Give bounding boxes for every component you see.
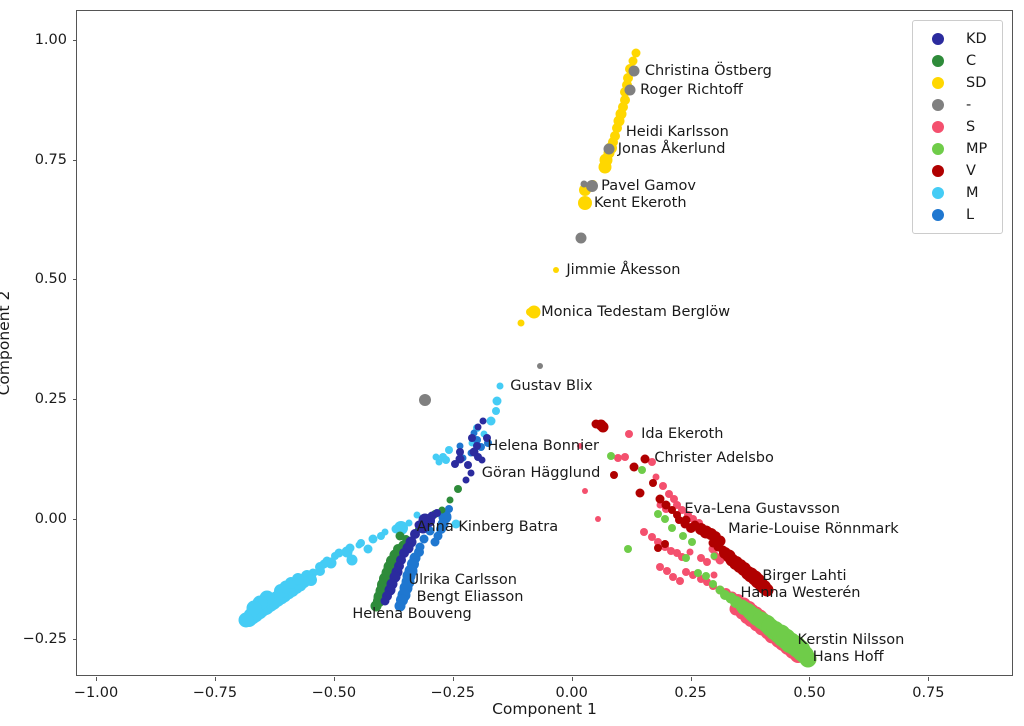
legend-swatch-icon bbox=[932, 187, 944, 199]
x-tick bbox=[809, 677, 810, 681]
x-tick bbox=[691, 677, 692, 681]
legend-item-l[interactable]: L bbox=[923, 204, 992, 226]
y-tick-label: 1.00 bbox=[35, 32, 67, 48]
point-annotation-label: Hanna Westerén bbox=[740, 586, 860, 601]
legend-item-mp[interactable]: MP bbox=[923, 138, 992, 160]
legend-item-sd[interactable]: SD bbox=[923, 72, 992, 94]
y-tick bbox=[73, 40, 77, 41]
y-tick bbox=[73, 399, 77, 400]
legend-swatch-icon bbox=[932, 209, 944, 221]
legend-item-label: C bbox=[966, 53, 992, 69]
x-tick-label: 0.00 bbox=[556, 685, 588, 701]
legend-swatch-icon bbox=[932, 77, 944, 89]
point-annotation-label: Birger Lahti bbox=[762, 569, 846, 584]
y-tick-label: −0.25 bbox=[23, 631, 67, 647]
y-tick-label: 0.00 bbox=[35, 511, 67, 527]
x-tick bbox=[334, 677, 335, 681]
x-tick-label: −1.00 bbox=[74, 685, 118, 701]
x-tick bbox=[96, 677, 97, 681]
x-tick-label: 0.25 bbox=[674, 685, 706, 701]
legend-item-none[interactable]: - bbox=[923, 94, 992, 116]
plot-area: Christina ÖstbergRoger RichtoffHeidi Kar… bbox=[76, 10, 1013, 676]
point-annotation-label: Heidi Karlsson bbox=[626, 125, 729, 140]
legend-item-label: MP bbox=[966, 141, 992, 157]
x-tick-label: 0.75 bbox=[912, 685, 944, 701]
legend-swatch-icon bbox=[932, 165, 944, 177]
point-annotation-label: Eva-Lena Gustavsson bbox=[684, 502, 840, 517]
legend-swatch-icon bbox=[932, 121, 944, 133]
point-annotation-label: Kerstin Nilsson bbox=[798, 632, 905, 647]
point-annotation-label: Ida Ekeroth bbox=[641, 426, 723, 441]
point-annotation-label: Jimmie Åkesson bbox=[566, 262, 680, 277]
point-annotation-label: Christer Adelsbo bbox=[654, 451, 773, 466]
y-tick-label: 0.75 bbox=[35, 152, 67, 168]
legend-swatch-icon bbox=[932, 99, 944, 111]
point-annotation-label: Ulrika Carlsson bbox=[408, 572, 516, 587]
point-annotation-label: Jonas Åkerlund bbox=[618, 141, 726, 156]
legend-item-label: SD bbox=[966, 75, 992, 91]
point-annotation-label: Helena Bonnier bbox=[487, 439, 599, 454]
x-axis-label: Component 1 bbox=[76, 700, 1013, 718]
point-annotation-label: Hans Hoff bbox=[813, 650, 884, 665]
legend-item-label: KD bbox=[966, 31, 992, 47]
point-annotation-label: Helena Bouveng bbox=[352, 607, 471, 622]
point-annotation-label: Gustav Blix bbox=[510, 379, 592, 394]
x-tick bbox=[572, 677, 573, 681]
x-tick bbox=[453, 677, 454, 681]
legend-item-label: L bbox=[966, 207, 992, 223]
point-annotation-label: Pavel Gamov bbox=[601, 179, 696, 194]
point-annotation-label: Christina Östberg bbox=[645, 64, 772, 79]
x-tick-label: −0.50 bbox=[312, 685, 356, 701]
y-tick bbox=[73, 279, 77, 280]
x-tick-label: −0.25 bbox=[431, 685, 475, 701]
legend-item-c[interactable]: C bbox=[923, 50, 992, 72]
legend-swatch-icon bbox=[932, 55, 944, 67]
legend-item-label: - bbox=[966, 97, 992, 113]
legend-swatch-icon bbox=[932, 143, 944, 155]
x-tick-label: 0.50 bbox=[793, 685, 825, 701]
scatter-plot-figure: Christina ÖstbergRoger RichtoffHeidi Kar… bbox=[0, 0, 1024, 726]
y-tick bbox=[73, 639, 77, 640]
point-annotation-label: Bengt Eliasson bbox=[417, 590, 524, 605]
point-annotation-label: Marie-Louise Rönnmark bbox=[728, 522, 899, 537]
x-tick bbox=[928, 677, 929, 681]
legend-item-s[interactable]: S bbox=[923, 116, 992, 138]
x-tick-label: −0.75 bbox=[193, 685, 237, 701]
legend[interactable]: KDCSD-SMPVML bbox=[912, 20, 1003, 234]
point-labels-layer: Christina ÖstbergRoger RichtoffHeidi Kar… bbox=[77, 11, 1012, 675]
legend-item-kd[interactable]: KD bbox=[923, 28, 992, 50]
point-annotation-label: Roger Richtoff bbox=[640, 83, 743, 98]
legend-item-label: V bbox=[966, 163, 992, 179]
legend-item-m[interactable]: M bbox=[923, 182, 992, 204]
y-tick-label: 0.50 bbox=[35, 271, 67, 287]
point-annotation-label: Kent Ekeroth bbox=[594, 195, 687, 210]
y-tick bbox=[73, 160, 77, 161]
legend-item-label: M bbox=[966, 185, 992, 201]
point-annotation-label: Monica Tedestam Berglöw bbox=[541, 305, 730, 320]
point-annotation-label: Anna Kinberg Batra bbox=[417, 520, 559, 535]
y-tick bbox=[73, 519, 77, 520]
point-annotation-label: Göran Hägglund bbox=[482, 466, 601, 481]
legend-swatch-icon bbox=[932, 33, 944, 45]
y-tick-label: 0.25 bbox=[35, 391, 67, 407]
legend-item-v[interactable]: V bbox=[923, 160, 992, 182]
x-tick bbox=[215, 677, 216, 681]
y-axis-label: Component 2 bbox=[0, 291, 13, 396]
legend-item-label: S bbox=[966, 119, 992, 135]
